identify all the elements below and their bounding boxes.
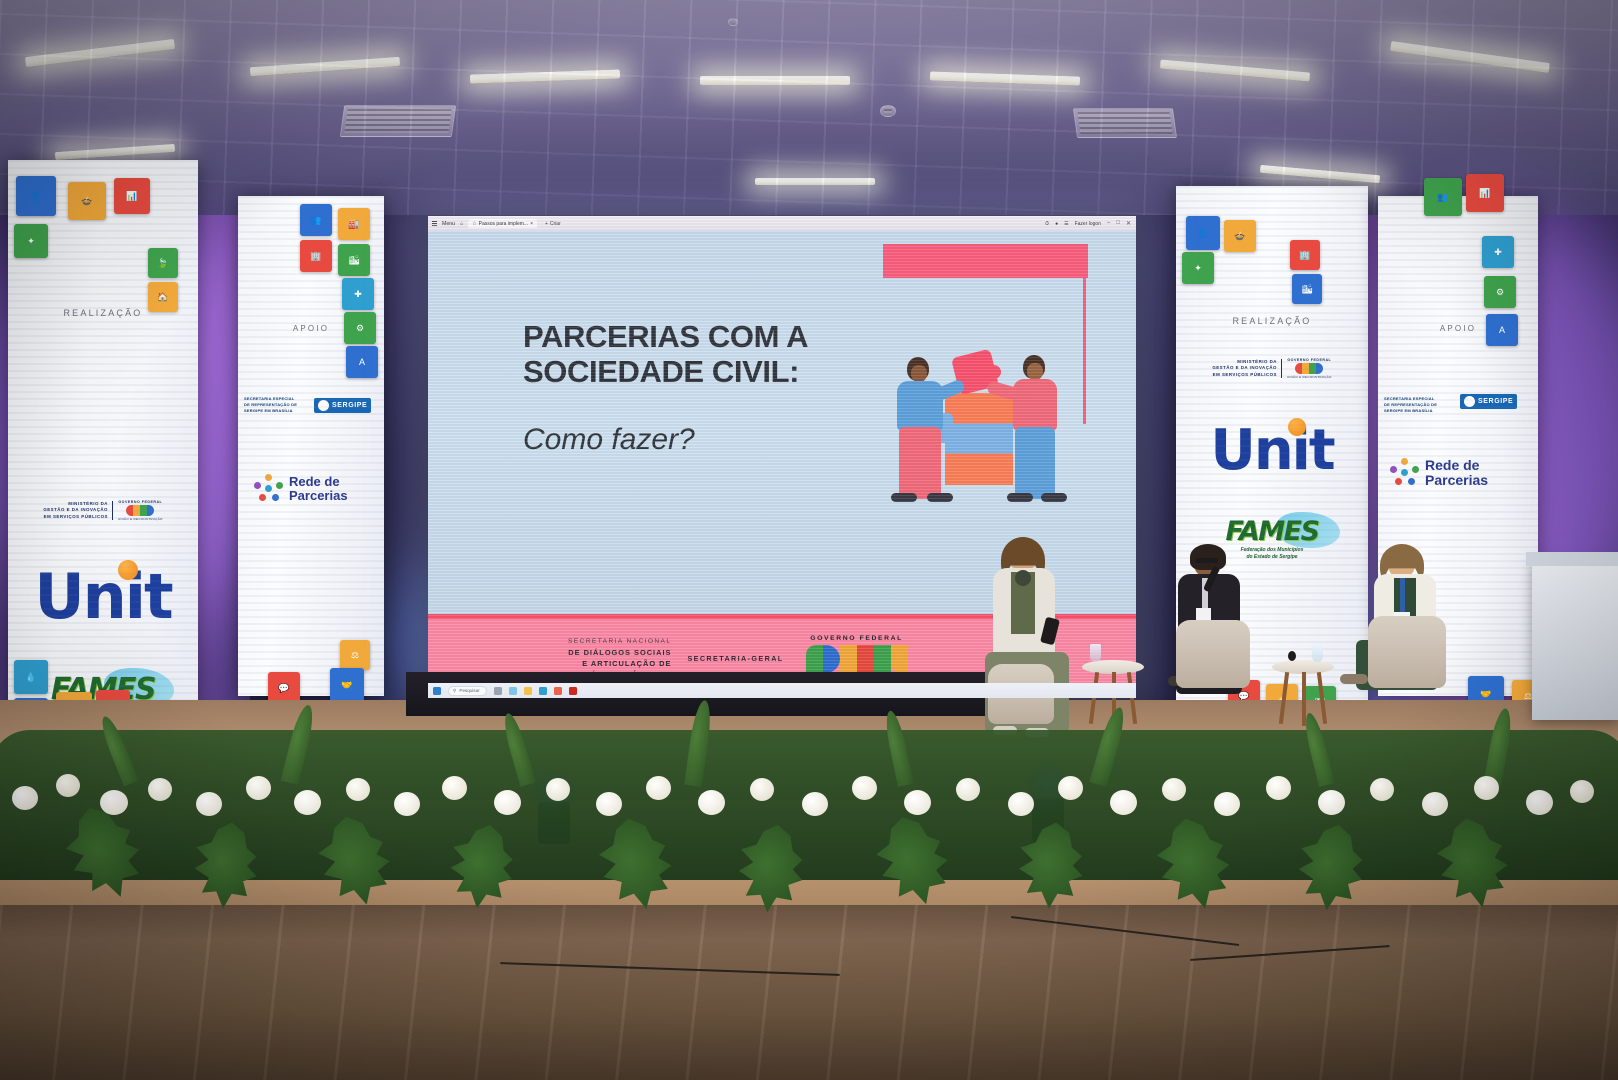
close-window-icon[interactable]: ✕: [1126, 220, 1132, 227]
white-flower: [246, 776, 271, 800]
slide-decor-pink-bar: [883, 244, 1088, 278]
history-icon[interactable]: ⏱: [1045, 221, 1049, 227]
unit-logo-left: Unit: [8, 560, 198, 633]
ceiling: [0, 0, 1618, 215]
white-flower: [852, 776, 877, 800]
illustration-person-right-face: [1027, 363, 1043, 380]
brasil-wordmark-left: GOVERNO FEDERAL UNIÃO E RECONSTRUÇÃO: [118, 500, 163, 521]
browser-tab-title: Passos para implem...: [479, 221, 528, 227]
ceiling-light: [470, 69, 620, 83]
water-glass: [1312, 644, 1323, 662]
speaker-left-necklace: [1015, 570, 1031, 586]
icon-building: 🏢: [300, 240, 332, 272]
icon-bowl: 🍲: [1224, 220, 1256, 252]
ceiling-air-vent: [340, 105, 456, 137]
stool-center: [1176, 620, 1250, 688]
new-tab-label: Criar: [550, 221, 561, 227]
white-flower: [100, 790, 128, 815]
brasil-wordmark-slide: [806, 645, 908, 673]
icon-city: 🏙: [338, 244, 370, 276]
white-flower: [1570, 780, 1594, 803]
icon-cross: ✚: [1482, 236, 1514, 268]
icon-people: 👥: [1424, 178, 1462, 216]
account-icon[interactable]: ●: [1055, 221, 1058, 227]
secretaria-especial-left: SECRETARIA ESPECIAL DE REPRESENTAÇÃO DE …: [244, 396, 316, 414]
icon-chart: 📊: [114, 178, 150, 214]
minimize-icon[interactable]: –: [1107, 220, 1111, 227]
plus-icon: +: [545, 221, 548, 227]
rede-de-parcerias-logo-left: Rede de Parcerias: [254, 474, 348, 504]
illustration-person-right-shoe: [1007, 493, 1033, 502]
ceiling-light: [700, 76, 850, 85]
white-flower: [294, 790, 321, 815]
water-glass: [1090, 644, 1101, 662]
ceiling-light: [1160, 59, 1310, 81]
speaker-center-hair: [1190, 544, 1226, 570]
icon-building: 🏢: [1290, 240, 1320, 270]
governo-federal-label: GOVERNO FEDERAL: [806, 635, 908, 642]
rede-network-icon: [254, 474, 284, 504]
brasil-wordmark-right: GOVERNO FEDERAL UNIÃO E RECONSTRUÇÃO: [1287, 358, 1332, 379]
ceiling-light: [250, 57, 400, 76]
edge-icon[interactable]: [539, 687, 547, 695]
white-flower: [12, 786, 38, 810]
icon-gear: ⚙: [344, 312, 376, 344]
white-flower: [442, 776, 467, 800]
audience-floor: [0, 905, 1618, 1080]
icon-city: 🏙: [1292, 274, 1322, 304]
white-flower: [394, 792, 420, 816]
white-flower: [56, 774, 80, 797]
windows-taskbar: ⚲ Pesquisar: [428, 683, 1136, 698]
ceiling-air-vent: [1073, 108, 1177, 138]
sergipe-emblem: [1464, 396, 1475, 407]
conference-stage-scene: REALIZAÇÃO MINISTÉRIO DA GESTÃO E DA INO…: [0, 0, 1618, 1080]
task-view-icon[interactable]: [494, 687, 502, 695]
stool-right: [1368, 616, 1446, 688]
menu-label[interactable]: Menu: [442, 221, 455, 227]
icon-chart: 📊: [1466, 174, 1504, 212]
secretaria-geral-label: SECRETARIA-GERAL: [687, 654, 783, 663]
taskbar-search-box[interactable]: ⚲ Pesquisar: [448, 686, 487, 696]
search-placeholder: Pesquisar: [459, 688, 479, 693]
sergipe-emblem: [318, 400, 329, 411]
acrobat-icon[interactable]: [569, 687, 577, 695]
podium-top: [1526, 552, 1618, 566]
white-flower: [346, 778, 370, 801]
slide-title-line1: PARCERIAS COM A: [523, 319, 853, 354]
chrome-icon[interactable]: [554, 687, 562, 695]
white-flower: [1318, 790, 1345, 815]
sergipe-state-logo-left: SERGIPE: [314, 398, 371, 413]
unit-logo-right: Unit: [1176, 418, 1368, 483]
maximize-icon[interactable]: □: [1116, 220, 1121, 227]
slide-title: PARCERIAS COM A SOCIEDADE CIVIL:: [523, 319, 853, 390]
white-flower: [956, 778, 980, 801]
icon-people: 👥: [300, 204, 332, 236]
icon-factory: 🏭: [338, 208, 370, 240]
table-microphone: [1288, 651, 1296, 661]
slide-subtitle: Como fazer?: [523, 423, 853, 456]
widgets-icon[interactable]: [509, 687, 517, 695]
illustration-person-right-legs: [1015, 427, 1055, 499]
ceiling-light: [55, 144, 175, 160]
secretaria-line3: E ARTICULAÇÃO DE: [568, 658, 671, 669]
illustration-person-right-torso: [1013, 379, 1057, 431]
icon-balance: ⚖: [340, 640, 370, 670]
speaker-right-lanyard: [1400, 578, 1405, 616]
unit-logo-dot-left: [118, 560, 138, 580]
ceiling-light: [1390, 41, 1550, 73]
rede-label-right: Rede de Parcerias: [1425, 458, 1488, 489]
illustration-person-right-shoe: [1041, 493, 1067, 502]
white-flower: [1214, 792, 1240, 816]
white-flower: [1058, 776, 1083, 800]
browser-tab[interactable]: ☆ Passos para implem... ×: [468, 219, 537, 228]
search-icon: ⚲: [453, 688, 456, 694]
icon-letter-a: A: [346, 346, 378, 378]
puzzle-illustration: [883, 341, 1073, 536]
icon-water: 💧: [14, 660, 48, 694]
speaker-right-shoe: [1340, 674, 1368, 684]
rede-network-icon: [1390, 458, 1420, 488]
ceiling-light: [25, 39, 175, 67]
white-flower: [546, 778, 570, 801]
ceiling-speaker: [880, 105, 896, 117]
white-flower: [596, 792, 622, 816]
icon-cross: ✚: [342, 278, 374, 310]
close-icon[interactable]: ×: [530, 221, 533, 227]
windows-start-icon[interactable]: [433, 687, 441, 695]
icon-letter-a: A: [1486, 314, 1518, 346]
illustration-person-left-shoe: [927, 493, 953, 502]
white-flower: [750, 778, 774, 801]
rede-de-parcerias-logo-right: Rede de Parcerias: [1390, 458, 1488, 489]
white-flower: [1266, 776, 1291, 800]
white-flower: [1162, 778, 1186, 801]
icon-person: 👤: [1186, 216, 1220, 250]
ministry-logo-right: MINISTÉRIO DA GESTÃO E DA INOVAÇÃO EM SE…: [1176, 358, 1368, 379]
browser-chrome: Menu ⌂ ☆ Passos para implem... × + Criar…: [428, 216, 1136, 231]
white-flower: [1370, 778, 1394, 801]
white-flower: [1008, 792, 1034, 816]
speaker-center-glasses: [1196, 558, 1218, 563]
slide-title-line2: SOCIEDADE CIVIL:: [523, 354, 853, 389]
white-flower: [148, 778, 172, 801]
star-icon: ☆: [472, 221, 476, 227]
icon-home: 🏠: [148, 282, 178, 312]
white-flower: [802, 792, 828, 816]
window-controls[interactable]: – □ ✕: [1107, 220, 1132, 227]
icon-star: ✦: [14, 224, 48, 258]
secretaria-line1: SECRETARIA NACIONAL: [568, 637, 671, 647]
white-flower: [698, 790, 725, 815]
white-flower: [904, 790, 931, 815]
flower-arrangement: [0, 690, 1618, 920]
sign-in-button[interactable]: Fazer logon: [1075, 221, 1101, 227]
white-flower: [646, 776, 671, 800]
ceiling-light: [1260, 165, 1380, 183]
white-flower: [1110, 790, 1137, 815]
illustration-person-left-shoe: [891, 493, 917, 502]
slide-decor-pink-line: [1083, 244, 1086, 424]
unit-logo-dot-right: [1288, 418, 1306, 436]
icon-bowl: 🍲: [68, 182, 106, 220]
white-flower: [1474, 776, 1499, 800]
ceiling-sprinkler: [728, 18, 738, 26]
icon-leaf: 🍃: [148, 248, 178, 278]
ministry-name-left: MINISTÉRIO DA GESTÃO E DA INOVAÇÃO EM SE…: [43, 501, 113, 521]
icon-star: ✦: [1182, 252, 1214, 284]
illustration-person-left-face: [911, 365, 927, 382]
brasil-color-blocks: [1295, 363, 1323, 374]
ceiling-light: [930, 71, 1080, 85]
explorer-icon[interactable]: [524, 687, 532, 695]
secretaria-line2: DE DIÁLOGOS SOCIAIS: [568, 647, 671, 658]
brasil-color-blocks: [126, 505, 154, 516]
white-flower: [1422, 792, 1448, 816]
icon-person: 👤: [16, 176, 56, 216]
sergipe-state-logo-right: SERGIPE: [1460, 394, 1517, 409]
ministry-logo-left: MINISTÉRIO DA GESTÃO E DA INOVAÇÃO EM SE…: [8, 500, 198, 521]
menu-hamburger-icon[interactable]: [432, 221, 437, 225]
white-flower: [196, 792, 222, 816]
apps-icon[interactable]: ☰: [1064, 221, 1068, 227]
white-flower: [1526, 790, 1553, 815]
home-icon[interactable]: ⌂: [460, 221, 463, 227]
banner-label-realizacao-right: REALIZAÇÃO: [1176, 316, 1368, 326]
puzzle-board: [945, 393, 1013, 485]
ministry-name-right: MINISTÉRIO DA GESTÃO E DA INOVAÇÃO EM SE…: [1212, 359, 1282, 379]
icon-gear: ⚙: [1484, 276, 1516, 308]
new-tab-button[interactable]: + Criar: [542, 219, 564, 228]
illustration-person-left-legs: [899, 427, 941, 499]
white-flower: [494, 790, 521, 815]
rede-label-left: Rede de Parcerias: [289, 475, 348, 504]
secretaria-especial-right: SECRETARIA ESPECIAL DE REPRESENTAÇÃO DE …: [1384, 396, 1460, 414]
ceiling-light: [755, 178, 875, 185]
